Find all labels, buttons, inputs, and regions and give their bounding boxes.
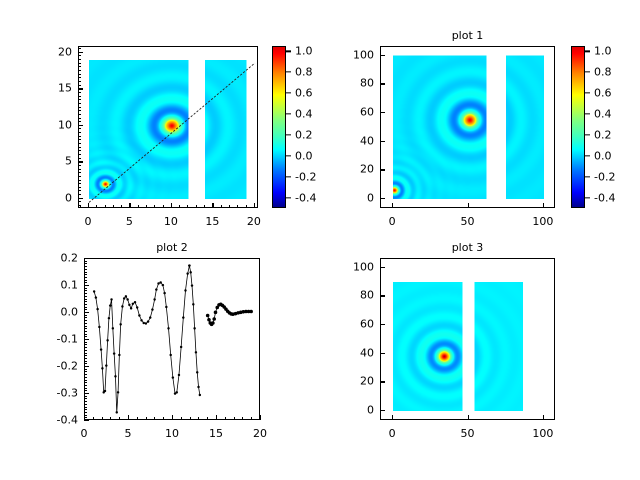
y-tick-mark — [84, 366, 89, 367]
x-tick-mark — [254, 203, 255, 208]
subplot-bottom-left-title: plot 2 — [84, 241, 260, 254]
x-minor-tick — [237, 205, 238, 208]
x-tick-label: 20 — [253, 427, 267, 440]
y-tick-label: -0.1 — [57, 333, 78, 346]
y-tick-label: 0.1 — [61, 279, 79, 292]
y-minor-tick — [84, 326, 87, 327]
y-minor-tick — [84, 331, 87, 332]
x-tick-label: 10 — [165, 427, 179, 440]
y-minor-tick — [78, 132, 81, 133]
y-minor-tick — [78, 147, 81, 148]
x-tick-label: 50 — [461, 427, 475, 440]
y-minor-tick — [78, 48, 81, 49]
x-tick-label: 15 — [205, 215, 219, 228]
y-tick-label: -0.4 — [57, 414, 78, 427]
x-minor-tick — [234, 417, 235, 420]
x-tick-label: 0 — [389, 427, 396, 440]
axis-decorations-top-right: 020406080100050100 — [380, 46, 555, 208]
x-minor-tick — [146, 417, 147, 420]
y-minor-tick — [78, 77, 81, 78]
x-minor-tick — [113, 205, 114, 208]
y-minor-tick — [84, 369, 87, 370]
y-minor-tick — [78, 180, 81, 181]
x-minor-tick — [137, 417, 138, 420]
y-tick-mark — [380, 410, 385, 411]
y-minor-tick — [84, 272, 87, 273]
axis-decorations-top-left: 0510152005101520 — [78, 46, 258, 208]
y-tick-label: 0.0 — [61, 306, 79, 319]
y-minor-tick — [84, 277, 87, 278]
x-minor-tick — [225, 417, 226, 420]
x-minor-tick — [204, 205, 205, 208]
y-minor-tick — [78, 190, 81, 191]
x-minor-tick — [119, 417, 120, 420]
x-tick-label: 5 — [126, 215, 133, 228]
y-tick-mark — [78, 88, 83, 89]
y-minor-tick — [78, 70, 81, 71]
colorbar-tick-label: 0.0 — [585, 149, 612, 162]
y-minor-tick — [84, 363, 87, 364]
y-minor-tick — [78, 85, 81, 86]
subplot-top-right: plot 1 020406080100050100 — [380, 46, 555, 208]
colorbar-top-right: -0.4-0.20.00.20.40.60.81.0 — [571, 46, 585, 208]
y-tick-label: 20 — [58, 45, 72, 58]
y-tick-label: -0.3 — [57, 387, 78, 400]
y-minor-tick — [78, 103, 81, 104]
x-tick-mark — [543, 203, 544, 208]
figure-canvas: 0510152005101520 -0.4-0.20.00.20.40.60.8… — [0, 0, 640, 480]
y-minor-tick — [78, 154, 81, 155]
y-minor-tick — [78, 165, 81, 166]
x-tick-mark — [392, 415, 393, 420]
y-tick-label: 20 — [360, 375, 374, 388]
x-tick-mark — [392, 203, 393, 208]
y-minor-tick — [78, 81, 81, 82]
y-minor-tick — [84, 320, 87, 321]
colorbar-tick-label: 0.4 — [585, 107, 612, 120]
y-minor-tick — [78, 59, 81, 60]
y-minor-tick — [84, 404, 87, 405]
y-minor-tick — [84, 396, 87, 397]
colorbar-tick-label: 0.4 — [286, 107, 313, 120]
y-tick-mark — [380, 267, 385, 268]
y-minor-tick — [78, 110, 81, 111]
y-tick-mark — [380, 169, 385, 170]
y-minor-tick — [84, 417, 87, 418]
y-tick-mark — [84, 312, 89, 313]
y-minor-tick — [78, 99, 81, 100]
x-tick-label: 10 — [164, 215, 178, 228]
y-minor-tick — [78, 139, 81, 140]
x-tick-mark — [88, 203, 89, 208]
x-minor-tick — [229, 205, 230, 208]
x-minor-tick — [251, 417, 252, 420]
x-tick-label: 20 — [247, 215, 261, 228]
colorbar-tick-label: 0.8 — [286, 66, 313, 79]
x-tick-label: 50 — [461, 215, 475, 228]
y-minor-tick — [84, 385, 87, 386]
colorbar-top-left: -0.4-0.20.00.20.40.60.81.0 — [272, 46, 286, 208]
y-minor-tick — [78, 66, 81, 67]
y-minor-tick — [78, 74, 81, 75]
y-tick-mark — [84, 420, 89, 421]
y-minor-tick — [84, 350, 87, 351]
y-minor-tick — [84, 290, 87, 291]
colorbar-tick-label: -0.4 — [585, 191, 615, 204]
colorbar-tick-label: 1.0 — [585, 45, 612, 58]
y-minor-tick — [78, 169, 81, 170]
y-minor-tick — [78, 143, 81, 144]
colorbar-tick-label: 0.6 — [585, 87, 612, 100]
y-minor-tick — [84, 293, 87, 294]
y-tick-mark — [84, 339, 89, 340]
x-tick-label: 15 — [209, 427, 223, 440]
x-minor-tick — [246, 205, 247, 208]
x-tick-mark — [212, 203, 213, 208]
y-tick-label: 60 — [360, 317, 374, 330]
x-tick-mark — [468, 203, 469, 208]
x-minor-tick — [198, 417, 199, 420]
x-minor-tick — [163, 205, 164, 208]
y-minor-tick — [78, 201, 81, 202]
subplot-bottom-right-title: plot 3 — [380, 241, 555, 254]
y-minor-tick — [84, 355, 87, 356]
x-tick-mark — [543, 415, 544, 420]
y-minor-tick — [84, 304, 87, 305]
y-tick-mark — [78, 198, 83, 199]
x-minor-tick — [207, 417, 208, 420]
y-tick-mark — [380, 324, 385, 325]
y-minor-tick — [78, 150, 81, 151]
y-minor-tick — [84, 328, 87, 329]
colorbar-tick-label: 0.2 — [585, 128, 612, 141]
y-tick-mark — [84, 393, 89, 394]
y-tick-label: 80 — [360, 289, 374, 302]
y-tick-label: 5 — [65, 155, 72, 168]
y-minor-tick — [84, 261, 87, 262]
y-tick-label: 15 — [58, 82, 72, 95]
axis-decorations-bottom-right: 020406080100050100 — [380, 258, 555, 420]
y-minor-tick — [84, 334, 87, 335]
x-tick-mark — [171, 203, 172, 208]
x-tick-label: 0 — [81, 427, 88, 440]
colorbar-ticks-top-right: -0.4-0.20.00.20.40.60.81.0 — [571, 46, 585, 208]
y-minor-tick — [84, 380, 87, 381]
x-tick-mark — [128, 415, 129, 420]
x-minor-tick — [93, 417, 94, 420]
y-minor-tick — [78, 176, 81, 177]
colorbar-tick-label: 0.0 — [286, 149, 313, 162]
x-tick-label: 100 — [532, 215, 553, 228]
y-minor-tick — [78, 136, 81, 137]
y-minor-tick — [78, 118, 81, 119]
colorbar-tick-label: 0.2 — [286, 128, 313, 141]
y-minor-tick — [78, 107, 81, 108]
y-tick-mark — [78, 52, 83, 53]
y-tick-label: 60 — [360, 105, 374, 118]
y-minor-tick — [84, 361, 87, 362]
subplot-bottom-left: plot 2 0.20.10.0-0.1-0.2-0.3-0.405101520 — [84, 258, 260, 420]
y-minor-tick — [84, 307, 87, 308]
x-tick-label: 100 — [532, 427, 553, 440]
y-tick-mark — [380, 112, 385, 113]
y-tick-mark — [380, 381, 385, 382]
x-minor-tick — [146, 205, 147, 208]
y-tick-label: 100 — [353, 48, 374, 61]
subplot-top-left: 0510152005101520 — [78, 46, 258, 208]
x-minor-tick — [138, 205, 139, 208]
y-tick-label: 0 — [367, 191, 374, 204]
y-minor-tick — [84, 301, 87, 302]
y-minor-tick — [84, 315, 87, 316]
colorbar-tick-label: -0.2 — [585, 170, 615, 183]
x-tick-label: 0 — [84, 215, 91, 228]
colorbar-tick-label: 0.6 — [286, 87, 313, 100]
y-minor-tick — [84, 390, 87, 391]
x-tick-mark — [129, 203, 130, 208]
axis-decorations-bottom-left: 0.20.10.0-0.1-0.2-0.3-0.405101520 — [84, 258, 260, 420]
colorbar-tick-label: -0.2 — [286, 170, 316, 183]
y-tick-mark — [380, 83, 385, 84]
y-tick-label: 40 — [360, 346, 374, 359]
y-tick-label: 0.2 — [61, 252, 79, 265]
y-minor-tick — [84, 342, 87, 343]
x-minor-tick — [196, 205, 197, 208]
y-minor-tick — [84, 398, 87, 399]
x-minor-tick — [181, 417, 182, 420]
y-minor-tick — [84, 401, 87, 402]
y-tick-mark — [380, 141, 385, 142]
y-minor-tick — [84, 317, 87, 318]
y-minor-tick — [84, 358, 87, 359]
x-minor-tick — [187, 205, 188, 208]
x-tick-label: 0 — [389, 215, 396, 228]
y-minor-tick — [84, 280, 87, 281]
x-tick-label: 5 — [125, 427, 132, 440]
y-minor-tick — [84, 263, 87, 264]
subplot-bottom-right: plot 3 020406080100050100 — [380, 258, 555, 420]
y-minor-tick — [84, 374, 87, 375]
x-tick-mark — [172, 415, 173, 420]
x-minor-tick — [121, 205, 122, 208]
y-minor-tick — [78, 114, 81, 115]
colorbar-tick-label: -0.4 — [286, 191, 316, 204]
y-minor-tick — [84, 288, 87, 289]
y-minor-tick — [78, 183, 81, 184]
y-minor-tick — [84, 336, 87, 337]
y-minor-tick — [84, 274, 87, 275]
y-minor-tick — [84, 388, 87, 389]
y-minor-tick — [84, 353, 87, 354]
y-minor-tick — [84, 266, 87, 267]
x-minor-tick — [102, 417, 103, 420]
x-minor-tick — [96, 205, 97, 208]
y-minor-tick — [78, 187, 81, 188]
y-minor-tick — [84, 377, 87, 378]
y-minor-tick — [84, 347, 87, 348]
x-minor-tick — [163, 417, 164, 420]
y-minor-tick — [84, 412, 87, 413]
x-tick-mark — [216, 415, 217, 420]
y-tick-label: 20 — [360, 163, 374, 176]
x-minor-tick — [190, 417, 191, 420]
x-minor-tick — [110, 417, 111, 420]
x-minor-tick — [179, 205, 180, 208]
x-minor-tick — [221, 205, 222, 208]
y-tick-label: 0 — [65, 191, 72, 204]
x-minor-tick — [242, 417, 243, 420]
y-minor-tick — [84, 409, 87, 410]
y-tick-mark — [78, 161, 83, 162]
y-minor-tick — [84, 296, 87, 297]
y-minor-tick — [84, 323, 87, 324]
colorbar-ticks-top-left: -0.4-0.20.00.20.40.60.81.0 — [272, 46, 286, 208]
y-minor-tick — [78, 121, 81, 122]
y-tick-label: 0 — [367, 403, 374, 416]
y-minor-tick — [84, 344, 87, 345]
colorbar-tick-label: 1.0 — [286, 45, 313, 58]
y-tick-mark — [84, 258, 89, 259]
y-minor-tick — [84, 269, 87, 270]
x-tick-mark — [260, 415, 261, 420]
y-minor-tick — [78, 92, 81, 93]
y-tick-label: 100 — [353, 260, 374, 273]
y-minor-tick — [84, 407, 87, 408]
y-minor-tick — [78, 172, 81, 173]
y-minor-tick — [78, 158, 81, 159]
y-minor-tick — [84, 282, 87, 283]
y-minor-tick — [78, 55, 81, 56]
y-tick-label: 80 — [360, 77, 374, 90]
y-tick-mark — [380, 55, 385, 56]
x-minor-tick — [105, 205, 106, 208]
y-minor-tick — [84, 415, 87, 416]
y-minor-tick — [78, 96, 81, 97]
y-minor-tick — [84, 382, 87, 383]
y-minor-tick — [78, 63, 81, 64]
y-tick-label: 10 — [58, 118, 72, 131]
subplot-top-right-title: plot 1 — [380, 29, 555, 42]
y-tick-mark — [380, 353, 385, 354]
colorbar-tick-label: 0.8 — [585, 66, 612, 79]
y-tick-mark — [380, 198, 385, 199]
y-tick-mark — [78, 125, 83, 126]
x-tick-mark — [468, 415, 469, 420]
y-minor-tick — [78, 205, 81, 206]
x-minor-tick — [154, 205, 155, 208]
y-tick-mark — [380, 295, 385, 296]
y-minor-tick — [78, 128, 81, 129]
y-minor-tick — [84, 299, 87, 300]
y-tick-mark — [84, 285, 89, 286]
y-minor-tick — [84, 309, 87, 310]
y-minor-tick — [78, 194, 81, 195]
x-minor-tick — [154, 417, 155, 420]
y-minor-tick — [84, 371, 87, 372]
y-tick-label: 40 — [360, 134, 374, 147]
y-tick-label: -0.2 — [57, 360, 78, 373]
